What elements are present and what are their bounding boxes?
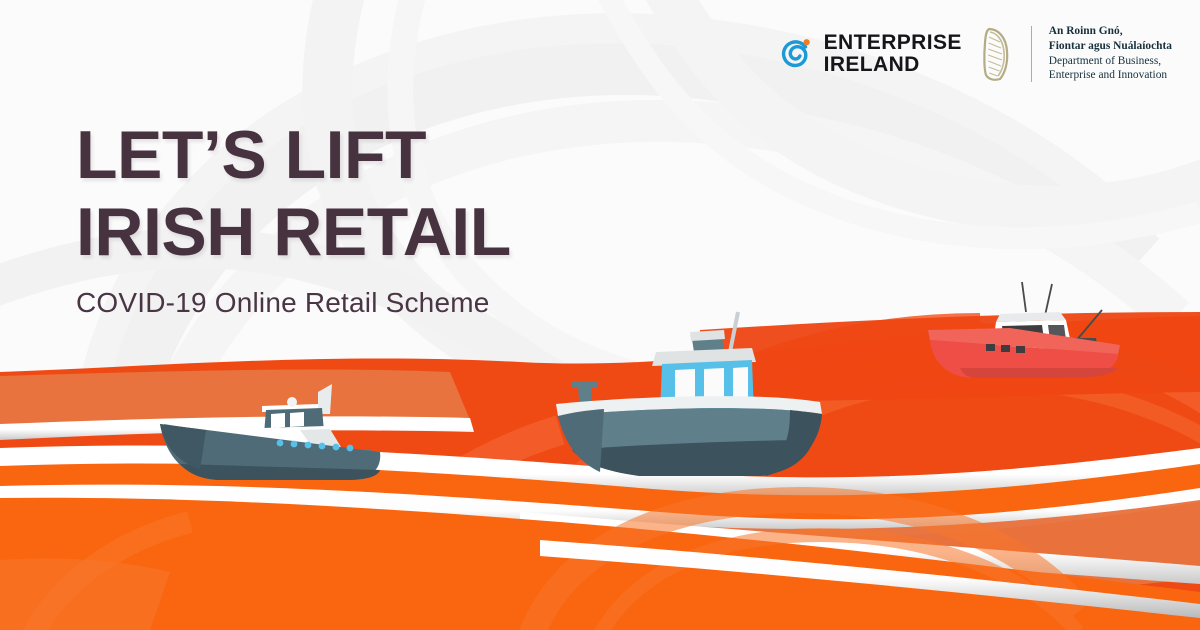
center-boat-bow [558,409,604,472]
left-boat-bridge-window-2 [290,412,304,427]
center-boat-bollard-cap [572,382,598,388]
ei-word-line-2: IRELAND [824,54,962,75]
department-wordmark: An Roinn Gnó, Fiontar agus Nuálaíochta D… [1049,24,1172,83]
left-cruiser-boat [160,384,380,480]
headline-line-1: LET’S LIFT [76,117,426,193]
center-boat-antenna [730,312,738,352]
logo-divider [1031,26,1032,82]
headline-line-2: IRISH RETAIL [76,199,511,266]
enterprise-ireland-spiral-icon [777,35,815,73]
logo-bar: ENTERPRISE IRELAND [777,24,1172,83]
enterprise-ireland-logo[interactable]: ENTERPRISE IRELAND [777,32,962,75]
left-boat-radar-dome [287,397,297,407]
dept-english-line-1: Department of Business, [1049,54,1172,69]
dept-irish-line-2: Fiontar agus Nuálaíochta [1049,39,1172,54]
dept-english-line-2: Enterprise and Innovation [1049,68,1172,83]
right-boat-hull-shadow [960,368,1118,378]
left-boat-bridge-window-1 [271,413,285,428]
department-logo[interactable]: An Roinn Gnó, Fiontar agus Nuálaíochta D… [980,24,1172,83]
page-title: LET’S LIFT IRISH RETAIL [76,122,511,265]
enterprise-ireland-wordmark: ENTERPRISE IRELAND [824,32,962,75]
right-sport-boat [928,282,1120,378]
dept-irish-line-1: An Roinn Gnó, [1049,24,1172,39]
promo-banner: LET’S LIFT IRISH RETAIL COVID-19 Online … [0,0,1200,630]
center-fishing-boat [556,312,822,476]
page-subtitle: COVID-19 Online Retail Scheme [76,287,511,319]
irish-harp-icon [980,25,1014,83]
headline-block: LET’S LIFT IRISH RETAIL COVID-19 Online … [76,122,511,319]
ei-word-line-1: ENTERPRISE [824,32,962,53]
